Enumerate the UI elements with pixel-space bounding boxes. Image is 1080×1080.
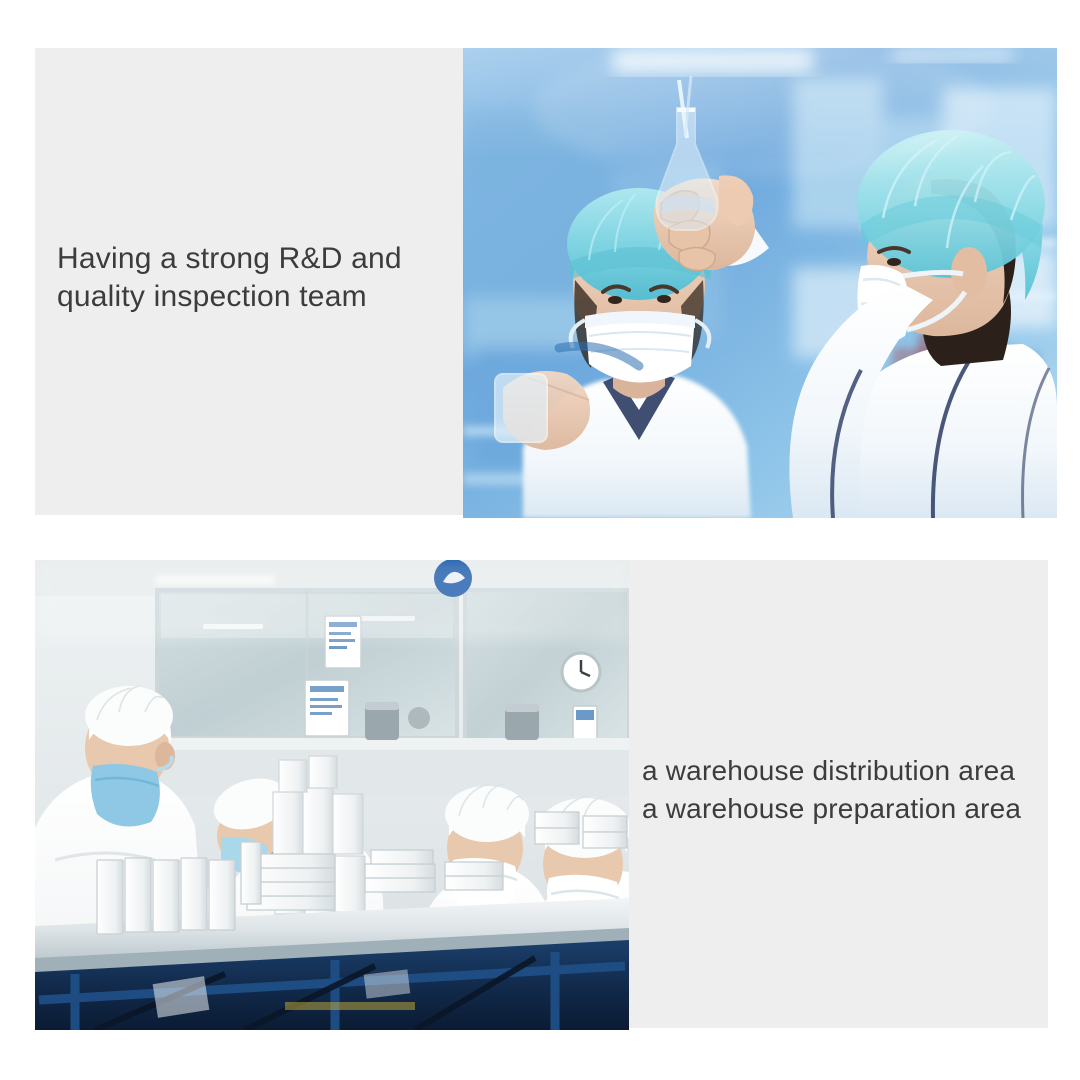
caption-rnd-quality: Having a strong R&D and quality inspecti… [57,240,457,317]
caption-panel-rnd: Having a strong R&D and quality inspecti… [35,48,463,515]
warehouse-scene-illustration [35,560,629,1030]
lab-technicians-photo [463,48,1057,518]
section-rnd-quality: Having a strong R&D and quality inspecti… [35,48,1057,518]
caption-panel-warehouse: a warehouse distribution area a warehous… [629,560,1048,1028]
lab-scene-illustration [463,48,1057,518]
warehouse-packing-photo [35,560,629,1030]
section-warehouse: a warehouse distribution area a warehous… [35,560,1048,1030]
caption-warehouse-areas: a warehouse distribution area a warehous… [642,752,1052,827]
product-feature-page: Having a strong R&D and quality inspecti… [0,0,1080,1080]
